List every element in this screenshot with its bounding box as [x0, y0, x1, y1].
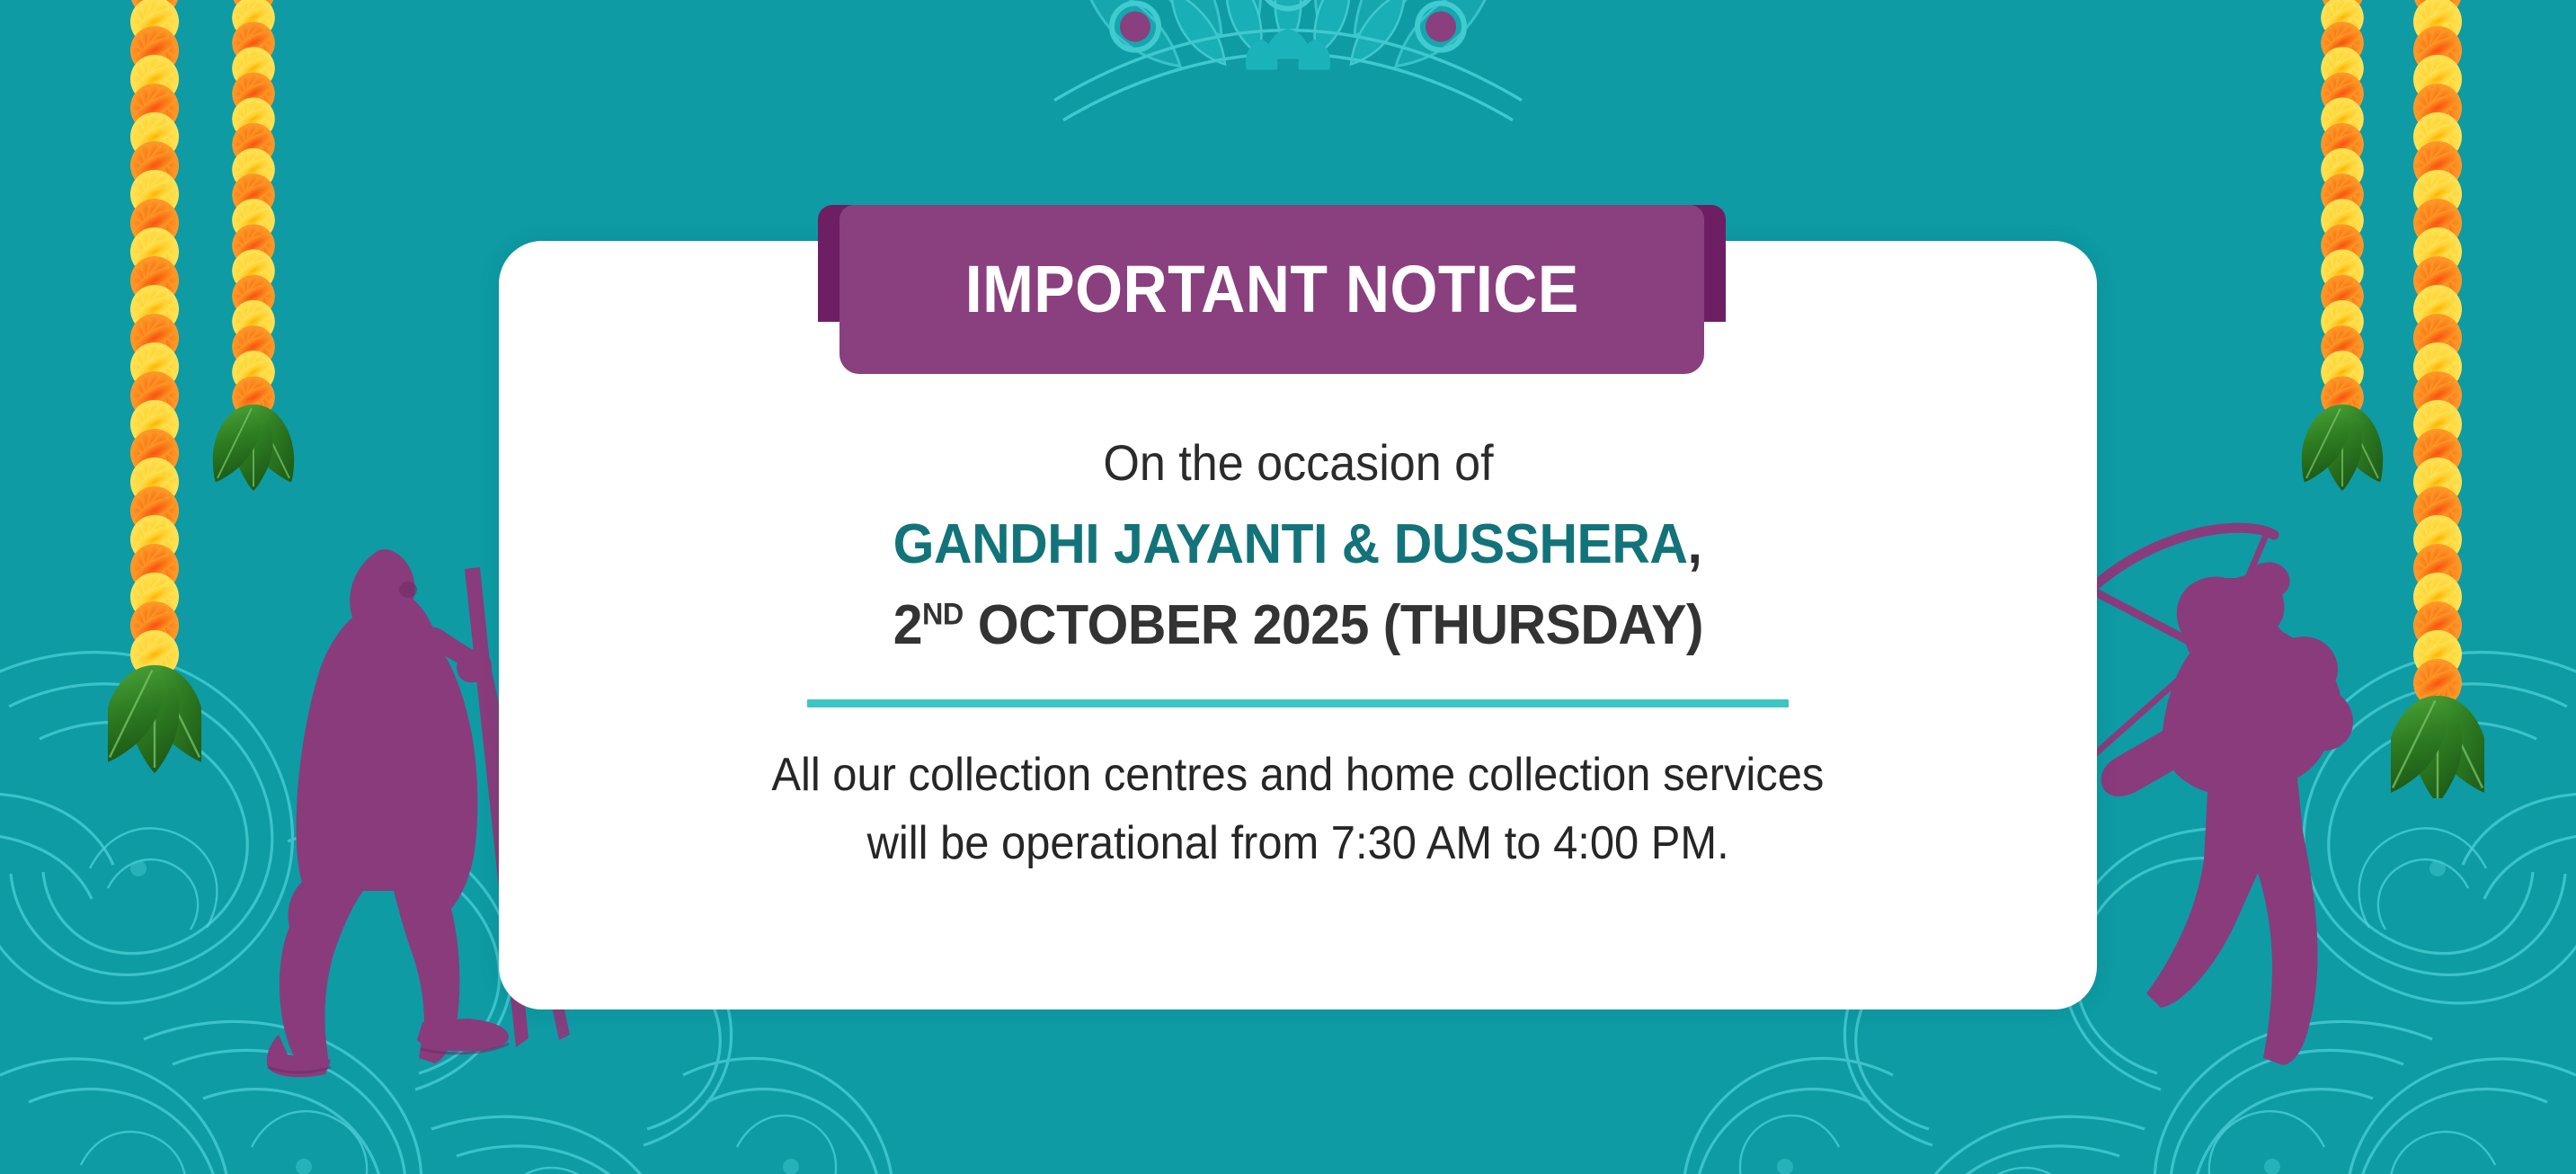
notice-content: On the occasion of GANDHI JAYANTI & DUSS… [499, 241, 2097, 1009]
festival-names: GANDHI JAYANTI & DUSSHERA, [893, 514, 1702, 575]
marigold-garland-left-short [212, 0, 295, 583]
festival-names-text: GANDHI JAYANTI & DUSSHERA [893, 513, 1688, 575]
notice-date: 2ND OCTOBER 2025 (THURSDAY) [893, 595, 1702, 656]
body-line-1: All our collection centres and home coll… [772, 749, 1825, 801]
date-ordinal-suffix: ND [922, 597, 964, 631]
marigold-garland-left-long [108, 0, 201, 780]
body-line-2: will be operational from 7:30 AM to 4:00… [866, 817, 1728, 869]
occasion-prefix: On the occasion of [1103, 435, 1493, 491]
marigold-garland-right-long [2391, 0, 2484, 798]
festival-names-comma: , [1688, 513, 1702, 575]
lotus-mandala-ornament [1036, 0, 1540, 182]
date-rest: OCTOBER 2025 (THURSDAY) [963, 594, 1702, 656]
section-divider [807, 699, 1789, 707]
date-day: 2 [893, 594, 921, 656]
notice-banner: IMPORTANT NOTICE On the occasion of GAND… [0, 0, 2576, 1174]
